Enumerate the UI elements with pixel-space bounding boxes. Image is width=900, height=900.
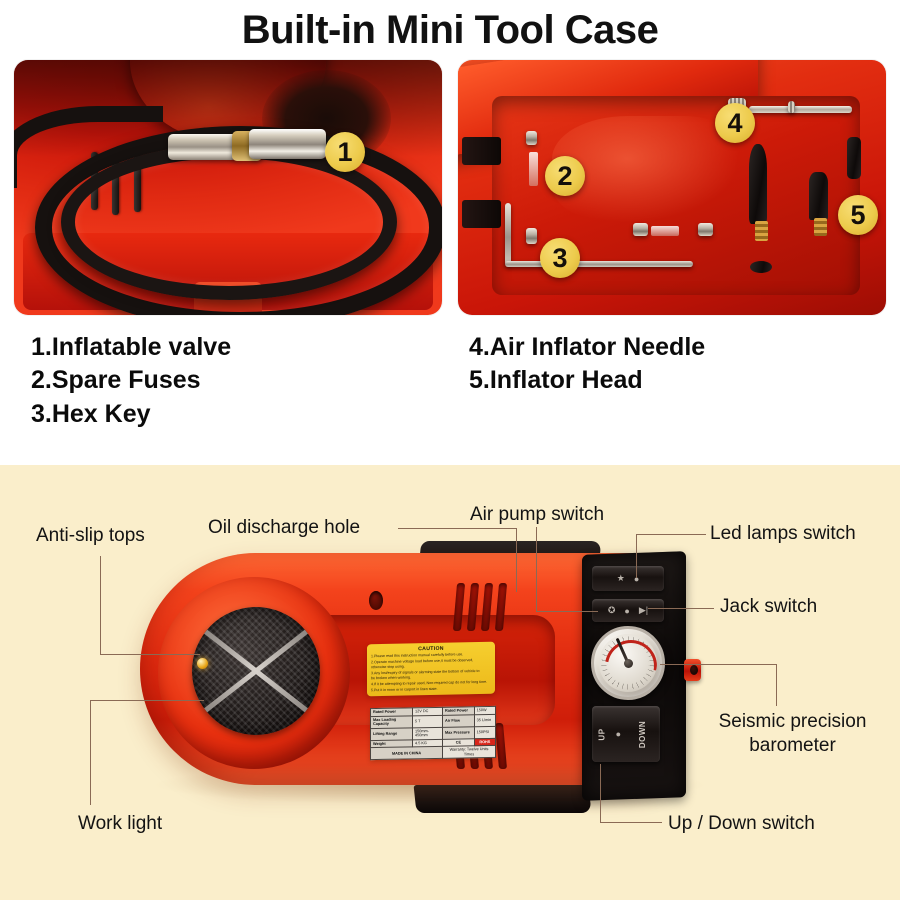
- badge-5: 5: [838, 195, 878, 235]
- label-oil-discharge-hole: Oil discharge hole: [208, 516, 360, 540]
- chrome-fitting-right: [249, 129, 326, 159]
- inflator-head-small-thread: [814, 218, 827, 236]
- spec-val: 5 T: [413, 715, 443, 728]
- power-circle-icon: ●: [616, 729, 621, 739]
- spec-val: 150mm-450mm: [413, 727, 443, 740]
- leader-oil-hole: [398, 528, 516, 529]
- led-lamps-switch[interactable]: ★ ●: [592, 566, 664, 591]
- spare-fuse-cap: [698, 223, 713, 236]
- badge-2-number: 2: [557, 161, 572, 192]
- inflatable-valve-photo: [14, 60, 442, 315]
- badge-4-number: 4: [727, 108, 742, 139]
- leader-led-lamps: [636, 534, 637, 578]
- label-work-light: Work light: [78, 812, 162, 836]
- spec-val: 35 L/min: [474, 714, 495, 726]
- caption-item: 4.Air Inflator Needle: [469, 331, 705, 364]
- leader-barometer: [776, 664, 777, 706]
- caption-item: 1.Inflatable valve: [31, 331, 231, 364]
- caption-item: 5.Inflator Head: [469, 364, 705, 397]
- up-down-row: UP ● DOWN: [592, 729, 660, 739]
- badge-1: 1: [325, 132, 365, 172]
- spare-fuse-glass: [529, 152, 538, 186]
- switch-label-up: UP: [597, 728, 606, 740]
- leader-air-pump: [536, 611, 598, 612]
- inflator-head-small: [809, 172, 828, 220]
- case-latch: [462, 137, 501, 165]
- case-latch: [462, 200, 501, 228]
- spare-fuse-glass: [651, 226, 679, 236]
- spec-key: Max Pressure: [443, 726, 475, 739]
- leader-up-down: [600, 822, 662, 823]
- leader-work-light: [90, 700, 204, 701]
- up-down-switch[interactable]: UP ● DOWN: [592, 706, 660, 762]
- power-circle-icon: ●: [624, 606, 629, 616]
- vent-slots-top: [453, 583, 507, 631]
- label-led-lamps-switch: Led lamps switch: [710, 522, 856, 546]
- oil-discharge-hole: [369, 591, 383, 610]
- vent-slot: [481, 583, 493, 631]
- chrome-fitting-left: [168, 134, 236, 160]
- label-jack-switch: Jack switch: [720, 595, 817, 619]
- badge-1-number: 1: [337, 137, 352, 168]
- spare-fuse-cap: [633, 223, 648, 236]
- caption-item: 3.Hex Key: [31, 398, 231, 431]
- table-row: MADE IN CHINA Warranty: Twelve Units Tim…: [371, 746, 496, 760]
- label-anti-slip-tops: Anti-slip tops: [36, 524, 145, 548]
- infographic-stage: Built-in Mini Tool Case: [0, 0, 900, 900]
- spec-key: Max Loading Capacity: [371, 715, 413, 728]
- spec-val: 150PSI: [474, 726, 495, 738]
- leader-work-light: [90, 700, 91, 805]
- made-in: MADE IN CHINA: [371, 747, 443, 760]
- badge-5-number: 5: [850, 200, 865, 231]
- label-seismic-precision-barometer: Seismic precision barometer: [700, 710, 885, 758]
- air-hose-tail: [14, 106, 163, 188]
- badge-3: 3: [540, 238, 580, 278]
- bottom-black-cap: [414, 785, 592, 813]
- gear-icon: ✪: [608, 605, 616, 616]
- air-outlet-hole: [690, 665, 698, 675]
- inflator-cone-large: [749, 144, 767, 224]
- badge-3-number: 3: [552, 243, 567, 274]
- leader-jack-switch: [648, 608, 714, 609]
- pump-icon: ▶|: [639, 605, 648, 616]
- needle-collar: [788, 101, 795, 113]
- inflator-cone-large-thread: [755, 221, 768, 241]
- vent-slot: [467, 583, 479, 631]
- leader-air-pump: [536, 527, 537, 611]
- caption-item: 2.Spare Fuses: [31, 364, 231, 397]
- anti-slip-pad: [192, 607, 320, 735]
- caption-list-left: 1.Inflatable valve 2.Spare Fuses 3.Hex K…: [31, 331, 231, 431]
- leader-led-lamps: [636, 534, 706, 535]
- gauge-hub: [624, 659, 633, 668]
- inflator-adapter: [847, 137, 861, 179]
- gauge-face: [599, 634, 657, 692]
- spec-table: Rated Power 12V DC Rated Power 150W Max …: [370, 706, 496, 761]
- badge-2: 2: [545, 156, 585, 196]
- lamp-icon: ★: [617, 573, 625, 584]
- hex-key-long-arm: [505, 261, 693, 267]
- spec-key: Lifting Range: [371, 727, 413, 740]
- leader-anti-slip: [100, 654, 200, 655]
- spec-key: Air Flow: [443, 714, 475, 727]
- leader-anti-slip: [100, 556, 101, 654]
- switch-label-down: DOWN: [638, 720, 647, 747]
- leader-oil-hole: [516, 528, 517, 592]
- label-up-down-switch: Up / Down switch: [668, 812, 815, 836]
- caption-list-right: 4.Air Inflator Needle 5.Inflator Head: [469, 331, 705, 398]
- spare-fuse-cap: [526, 131, 537, 145]
- caution-label: CAUTION 1.Please read this instruction m…: [367, 642, 495, 697]
- inflator-needle-rod: [749, 106, 852, 113]
- air-pump-jack-switch[interactable]: ✪ ● ▶|: [592, 599, 664, 622]
- work-light-led: [197, 658, 208, 669]
- leader-up-down: [600, 764, 601, 822]
- pressure-gauge: [591, 626, 665, 700]
- leader-barometer: [660, 664, 776, 665]
- hex-key-short-arm: [505, 203, 511, 265]
- label-air-pump-switch: Air pump switch: [470, 503, 604, 527]
- warranty-note: Warranty: Twelve Units Times: [443, 746, 496, 759]
- spare-fuse-cap: [526, 228, 537, 244]
- tool-case-photo: [458, 60, 886, 315]
- page-title: Built-in Mini Tool Case: [0, 8, 900, 53]
- badge-4: 4: [715, 103, 755, 143]
